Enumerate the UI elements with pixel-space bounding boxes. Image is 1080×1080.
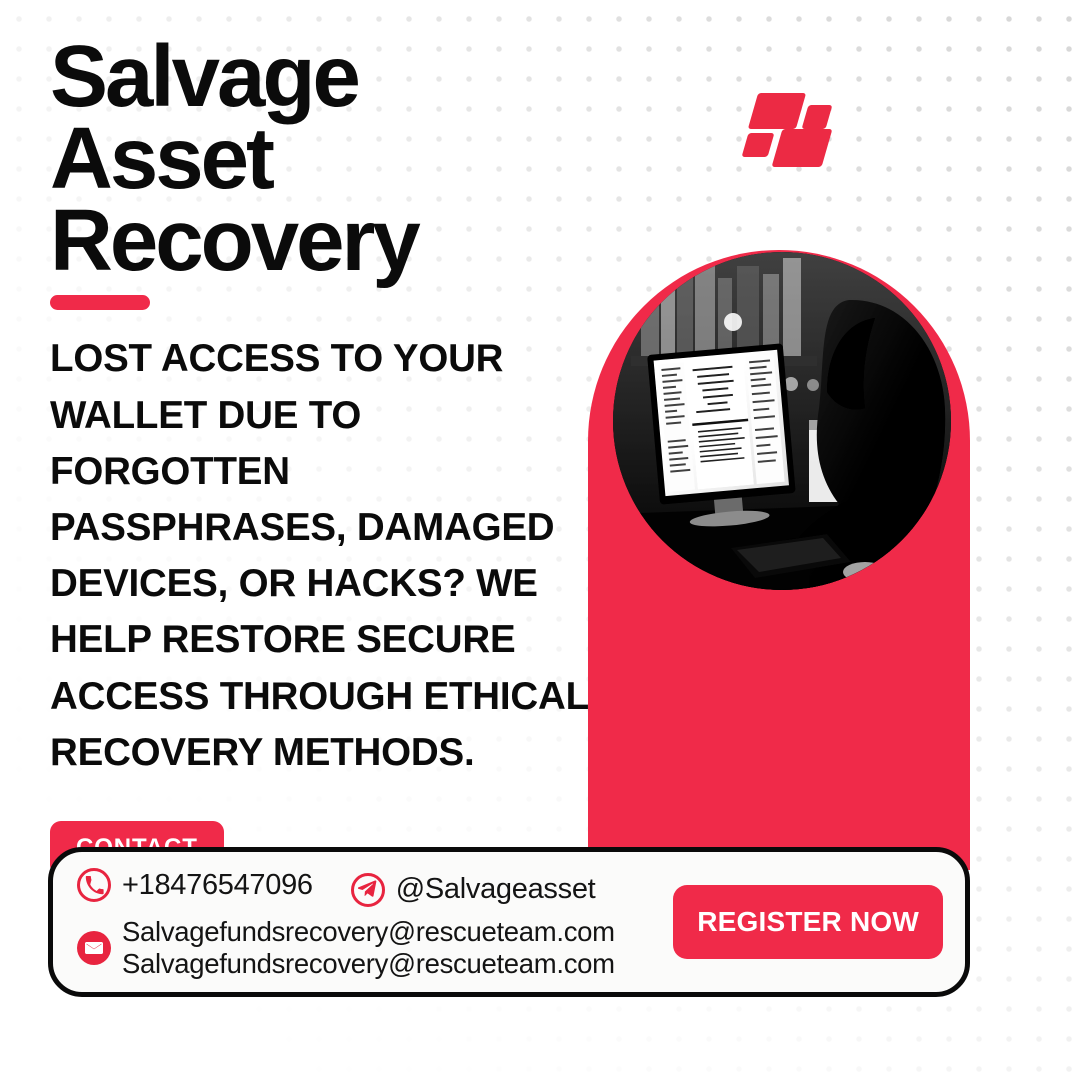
contact-row-primary: +18476547096 @Salvageasset xyxy=(77,864,655,907)
page-title: Salvage Asset Recovery xyxy=(50,36,595,281)
email-address-line-1: Salvagefundsrecovery@rescueteam.com xyxy=(122,916,615,947)
contact-item-phone[interactable]: +18476547096 xyxy=(77,868,313,902)
contact-bar: +18476547096 @Salvageasset Salvagefundsr… xyxy=(48,847,970,997)
logo-shape-bottom-right xyxy=(772,129,833,167)
phone-number: +18476547096 xyxy=(122,869,313,902)
title-underline-accent xyxy=(50,295,150,310)
contact-details: +18476547096 @Salvageasset Salvagefundsr… xyxy=(77,864,655,981)
mail-icon xyxy=(77,931,111,965)
email-address-block: Salvagefundsrecovery@rescueteam.com Salv… xyxy=(122,916,615,981)
contact-item-telegram[interactable]: @Salvageasset xyxy=(351,873,596,907)
four-rhombus-logo-icon xyxy=(745,93,827,165)
logo-shape-top-right xyxy=(802,105,833,129)
telegram-icon xyxy=(351,873,385,907)
hacker-at-computer-illustration xyxy=(613,252,951,590)
hero-subhead: Lost access to your wallet due to forgot… xyxy=(50,331,595,781)
hero-photo-circle xyxy=(613,252,951,590)
email-address-line-2: Salvagefundsrecovery@rescueteam.com xyxy=(122,948,615,979)
contact-item-email[interactable]: Salvagefundsrecovery@rescueteam.com Salv… xyxy=(77,916,655,981)
logo-shape-top-left xyxy=(748,93,806,129)
phone-icon xyxy=(77,868,111,902)
logo-shape-bottom-left xyxy=(742,133,775,157)
copy-column: Salvage Asset Recovery Lost access to yo… xyxy=(50,36,595,876)
register-now-button[interactable]: REGISTER NOW xyxy=(673,885,943,959)
telegram-handle: @Salvageasset xyxy=(396,873,596,906)
